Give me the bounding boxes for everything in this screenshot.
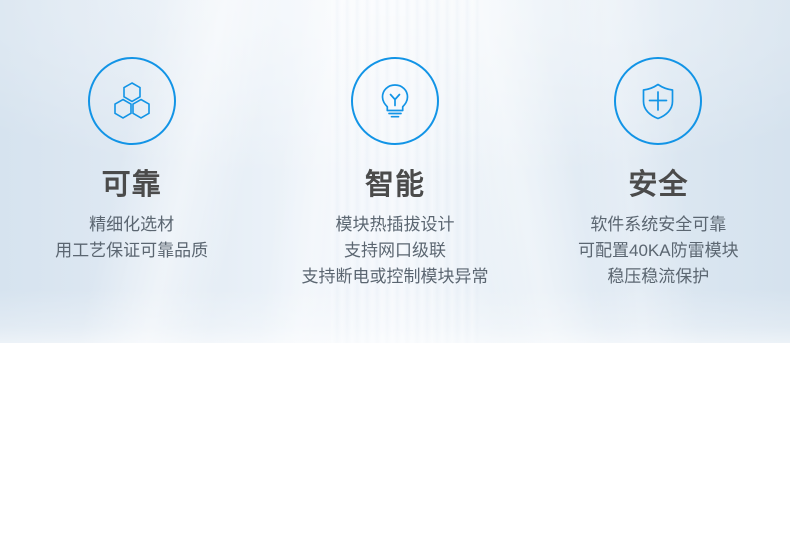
page-root: 可靠 精细化选材 用工艺保证可靠品质: [0, 0, 790, 551]
feature-description: 软件系统安全可靠 可配置40KA防雷模块 稳压稳流保护: [527, 212, 790, 290]
feature-band: 可靠 精细化选材 用工艺保证可靠品质: [0, 0, 790, 343]
feature-title: 安全: [527, 168, 790, 202]
feature-line: 支持断电或控制模块异常: [263, 264, 526, 290]
shield-plus-icon: [636, 79, 680, 123]
feature-title: 智能: [263, 168, 526, 202]
feature-title: 可靠: [0, 168, 263, 202]
feature-line: 软件系统安全可靠: [527, 212, 790, 238]
feature-item-smart: 智能 模块热插拔设计 支持网口级联 支持断电或控制模块异常: [263, 0, 526, 343]
feature-description: 精细化选材 用工艺保证可靠品质: [0, 212, 263, 264]
product-title-section: AF系列产品: [0, 343, 790, 551]
lightbulb-icon: [373, 79, 417, 123]
hexagons-icon: [109, 78, 155, 124]
feature-item-reliable: 可靠 精细化选材 用工艺保证可靠品质: [0, 0, 263, 343]
feature-icon-circle: [614, 57, 702, 145]
feature-line: 支持网口级联: [263, 238, 526, 264]
feature-item-safe: 安全 软件系统安全可靠 可配置40KA防雷模块 稳压稳流保护: [527, 0, 790, 343]
feature-description: 模块热插拔设计 支持网口级联 支持断电或控制模块异常: [263, 212, 526, 290]
feature-list: 可靠 精细化选材 用工艺保证可靠品质: [0, 0, 790, 343]
feature-icon-circle: [351, 57, 439, 145]
feature-icon-circle: [88, 57, 176, 145]
feature-line: 可配置40KA防雷模块: [527, 238, 790, 264]
feature-line: 精细化选材: [0, 212, 263, 238]
feature-line: 稳压稳流保护: [527, 264, 790, 290]
feature-line: 用工艺保证可靠品质: [0, 238, 263, 264]
feature-line: 模块热插拔设计: [263, 212, 526, 238]
